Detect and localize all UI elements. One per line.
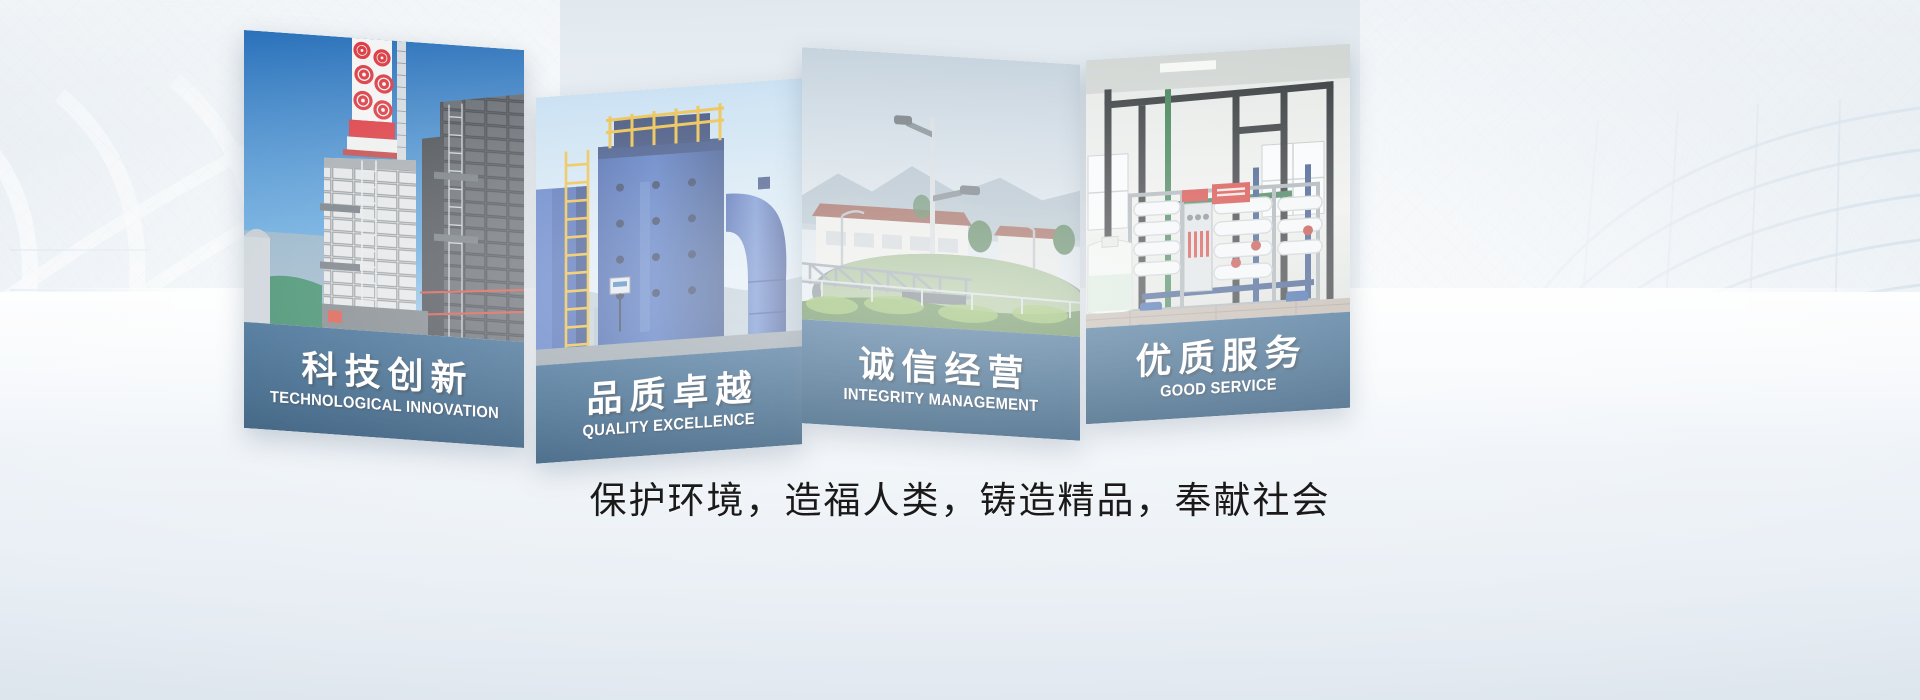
banner-tagline: 保护环境，造福人类，铸造精品，奉献社会 bbox=[0, 470, 1920, 524]
banner-stage: 科技创新 TECHNOLOGICAL INNOVATION bbox=[0, 0, 1920, 700]
vignette-overlay bbox=[0, 0, 1920, 700]
